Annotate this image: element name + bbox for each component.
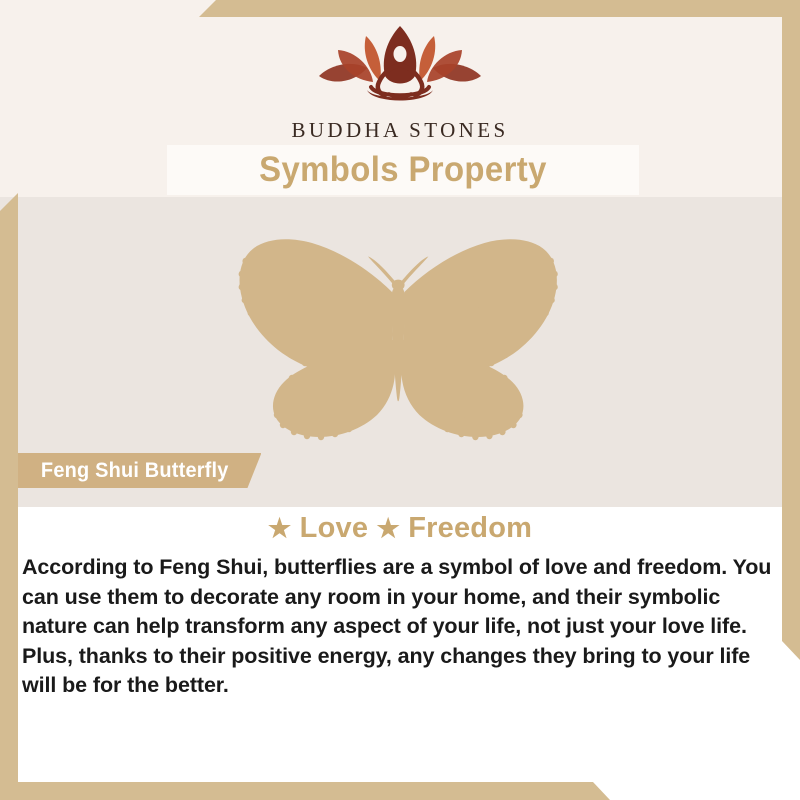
lotus-meditation-figure-icon — [305, 24, 495, 112]
keyword-love: Love — [300, 512, 369, 544]
section-label-banner: Feng Shui Butterfly — [18, 453, 261, 488]
keyword-freedom: Freedom — [408, 512, 532, 544]
promo-card: BUDDHA STONES Symbols Property — [0, 0, 800, 800]
page-title: Symbols Property — [259, 150, 547, 190]
section-label-text: Feng Shui Butterfly — [41, 459, 229, 483]
brand-name: BUDDHA STONES — [291, 118, 508, 143]
description-paragraph: According to Feng Shui, butterflies are … — [22, 553, 782, 701]
symbol-keywords-heading: ★ Love ★ Freedom — [0, 512, 800, 545]
title-banner: Symbols Property — [167, 145, 639, 195]
butterfly-illustration — [0, 222, 800, 452]
star-middle-icon: ★ — [376, 513, 400, 543]
brand-logo: BUDDHA STONES — [0, 24, 800, 143]
gold-border-left-icon — [0, 193, 18, 800]
star-left-icon: ★ — [268, 513, 292, 543]
gold-border-right-icon — [782, 0, 800, 660]
butterfly-icon — [220, 226, 580, 448]
